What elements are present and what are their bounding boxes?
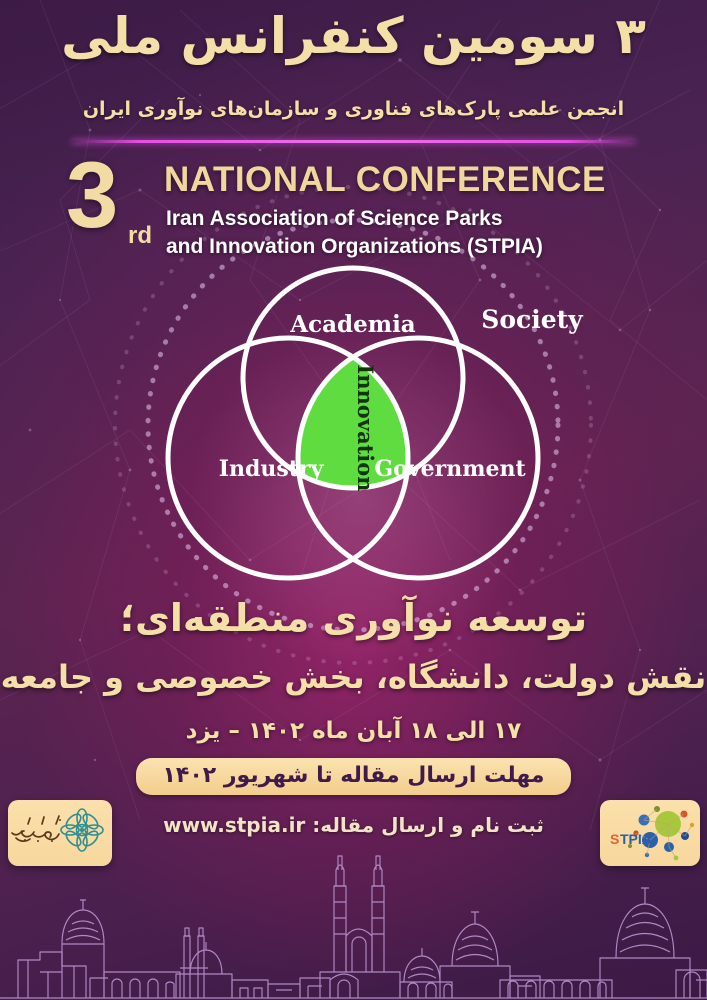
english-subtitle-line1: Iran Association of Science Parks: [166, 205, 543, 233]
header-divider: [72, 140, 635, 143]
venn-label-innovation: Innovation: [353, 364, 378, 491]
website-link[interactable]: www.stpia.ir: [163, 813, 305, 837]
stpia-text-rest: TPIA: [620, 831, 652, 847]
persian-subtitle: انجمن علمی پارک‌های فناوری و سازمان‌های …: [0, 98, 707, 120]
deadline-badge: مهلت ارسال مقاله تا شهریور ۱۴۰۲: [136, 758, 570, 795]
conference-poster: ۳ سومین کنفرانس ملی انجمن علمی پارک‌های …: [0, 0, 707, 1000]
stpia-logo[interactable]: S TPIA: [600, 800, 700, 866]
rosette-icon: [61, 809, 103, 851]
venn-label-industry: Industry: [219, 456, 325, 482]
persian-title: ۳ سومین کنفرانس ملی: [0, 10, 707, 63]
venn-diagram: Academia Industry Government Society Inn…: [118, 268, 588, 578]
deadline-badge-wrap: مهلت ارسال مقاله تا شهریور ۱۴۰۲: [0, 758, 707, 795]
date-location: ۱۷ الی ۱۸ آبان ماه ۱۴۰۲ – یزد: [0, 718, 707, 744]
english-subtitle: Iran Association of Science Parks and In…: [166, 205, 543, 262]
venn-label-government: Government: [374, 456, 526, 482]
venn-label-society: Society: [481, 305, 584, 334]
ordinal-number: 3: [66, 152, 118, 238]
registration-label: ثبت نام و ارسال مقاله:: [312, 813, 544, 837]
yazd-park-logo[interactable]: [8, 800, 112, 866]
park-calligraphy: [12, 816, 59, 841]
ordinal-suffix: rd: [128, 222, 152, 250]
theme-line-1: توسعه نوآوری منطقه‌ای؛: [0, 596, 707, 640]
venn-label-academia: Academia: [289, 311, 416, 338]
english-title: NATIONAL CONFERENCE: [164, 160, 606, 200]
stpia-text-s: S: [610, 831, 619, 847]
theme-line-2: نقش دولت، دانشگاه، بخش خصوصی و جامعه: [0, 658, 707, 696]
english-subtitle-line2: and Innovation Organizations (STPIA): [166, 233, 543, 261]
